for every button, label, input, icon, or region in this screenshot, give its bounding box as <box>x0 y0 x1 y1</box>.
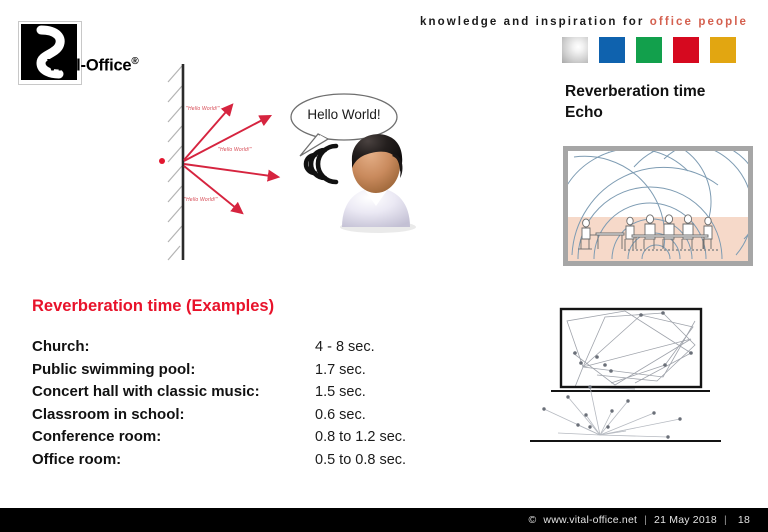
tagline-accent: office people <box>650 16 748 28</box>
table-row: Concert hall with classic music: 1.5 sec… <box>32 383 452 406</box>
avatar-body <box>342 188 410 227</box>
tagline-main: knowledge and inspiration for <box>420 16 644 28</box>
ray-diagram-free-field <box>528 375 723 445</box>
footer-separator-2: | <box>724 514 727 526</box>
row-label: Office room: <box>32 451 315 468</box>
section-title-reverberation-echo: Reverberation time Echo <box>565 82 705 124</box>
swatch-amber <box>710 37 736 63</box>
reverberation-table: Church: 4 - 8 sec. Public swimming pool:… <box>32 338 452 473</box>
speaker-avatar <box>330 128 422 233</box>
ray-nodes-free <box>542 385 681 438</box>
ray-label-middle: "Hello World!" <box>218 147 252 153</box>
logo-wordmark: Vital-Office® <box>47 57 139 74</box>
ray-label-top: "Hello World!" <box>186 106 220 112</box>
logo-wordmark-text: Vital-Office <box>47 57 131 75</box>
footer-bar: © www.vital-office.net | 21 May 2018 | 1… <box>0 508 768 532</box>
row-value: 1.5 sec. <box>315 384 366 400</box>
room-acoustics-diagram <box>563 146 753 266</box>
footer-page-number: 18 <box>734 514 750 526</box>
source-point <box>159 158 165 164</box>
swatch-silver <box>562 37 588 63</box>
footer-date: 21 May 2018 <box>654 514 717 526</box>
table-heading: Reverberation time (Examples) <box>32 297 274 316</box>
swatch-blue <box>599 37 625 63</box>
wall-hatching-icon <box>168 66 182 260</box>
row-label: Classroom in school: <box>32 406 315 423</box>
ray-label-bottom: "Hello World!" <box>184 197 218 203</box>
table-row: Public swimming pool: 1.7 sec. <box>32 361 452 384</box>
registered-mark: ® <box>131 56 138 67</box>
row-label: Conference room: <box>32 428 315 445</box>
swatch-green <box>636 37 662 63</box>
tagline: knowledge and inspiration for office peo… <box>420 16 748 28</box>
row-value: 0.5 to 0.8 sec. <box>315 452 406 468</box>
table-row: Conference room: 0.8 to 1.2 sec. <box>32 428 452 451</box>
row-label: Church: <box>32 338 315 355</box>
copyright-symbol: © <box>528 514 536 526</box>
footer-website[interactable]: www.vital-office.net <box>543 514 637 526</box>
row-value: 4 - 8 sec. <box>315 339 375 355</box>
table-row: Church: 4 - 8 sec. <box>32 338 452 361</box>
table-row: Classroom in school: 0.6 sec. <box>32 406 452 429</box>
row-value: 0.8 to 1.2 sec. <box>315 429 406 445</box>
color-swatch-row <box>562 37 736 63</box>
slide-canvas: Vital-Office® knowledge and inspiration … <box>0 0 768 532</box>
footer-content: © www.vital-office.net | 21 May 2018 | 1… <box>528 508 750 532</box>
footer-separator-1: | <box>644 514 647 526</box>
row-value: 0.6 sec. <box>315 407 366 423</box>
row-label: Public swimming pool: <box>32 361 315 378</box>
table-row: Office room: 0.5 to 0.8 sec. <box>32 451 452 474</box>
row-value: 1.7 sec. <box>315 362 366 378</box>
swatch-red <box>673 37 699 63</box>
row-label: Concert hall with classic music: <box>32 383 315 400</box>
speech-bubble-text: Hello World! <box>296 107 392 122</box>
room-floor-band <box>568 217 748 261</box>
